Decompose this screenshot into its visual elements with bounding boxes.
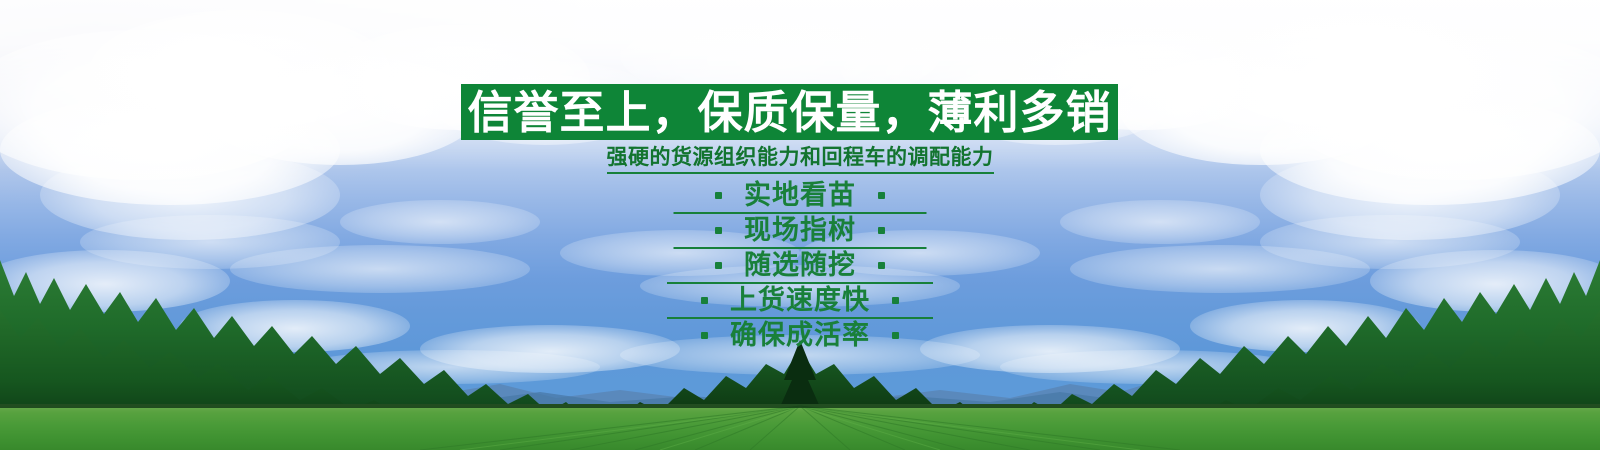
headline-text: 信誉至上，保质保量，薄利多销 (467, 90, 1111, 135)
banner-content: 信誉至上，保质保量，薄利多销 强硬的货源组织能力和回程车的调配能力 实地看苗 现… (0, 0, 1600, 450)
bullet-dot-icon (878, 227, 885, 234)
bullet-dot-icon (715, 192, 722, 199)
feature-item: 确保成活率 (0, 318, 1600, 353)
headline-banner: 信誉至上，保质保量，薄利多销 (461, 84, 1118, 140)
bullet-dot-icon (701, 332, 708, 339)
feature-item: 实地看苗 (0, 178, 1600, 213)
bullet-dot-icon (715, 227, 722, 234)
subtitle-text: 强硬的货源组织能力和回程车的调配能力 (607, 145, 994, 174)
bullet-dot-icon (878, 262, 885, 269)
feature-label: 上货速度快 (730, 287, 870, 314)
feature-label: 实地看苗 (744, 182, 856, 209)
bullet-dot-icon (701, 297, 708, 304)
subtitle-container: 强硬的货源组织能力和回程车的调配能力 (0, 145, 1600, 174)
feature-item: 现场指树 (0, 213, 1600, 248)
bullet-dot-icon (878, 192, 885, 199)
promo-banner: 信誉至上，保质保量，薄利多销 强硬的货源组织能力和回程车的调配能力 实地看苗 现… (0, 0, 1600, 450)
feature-list: 实地看苗 现场指树 随选随挖 (0, 178, 1600, 353)
bullet-dot-icon (892, 332, 899, 339)
feature-label: 现场指树 (744, 217, 856, 244)
feature-item: 随选随挖 (0, 248, 1600, 283)
bullet-dot-icon (715, 262, 722, 269)
bullet-dot-icon (892, 297, 899, 304)
feature-item: 上货速度快 (0, 283, 1600, 318)
feature-label: 确保成活率 (730, 322, 870, 349)
feature-label: 随选随挖 (744, 252, 856, 279)
